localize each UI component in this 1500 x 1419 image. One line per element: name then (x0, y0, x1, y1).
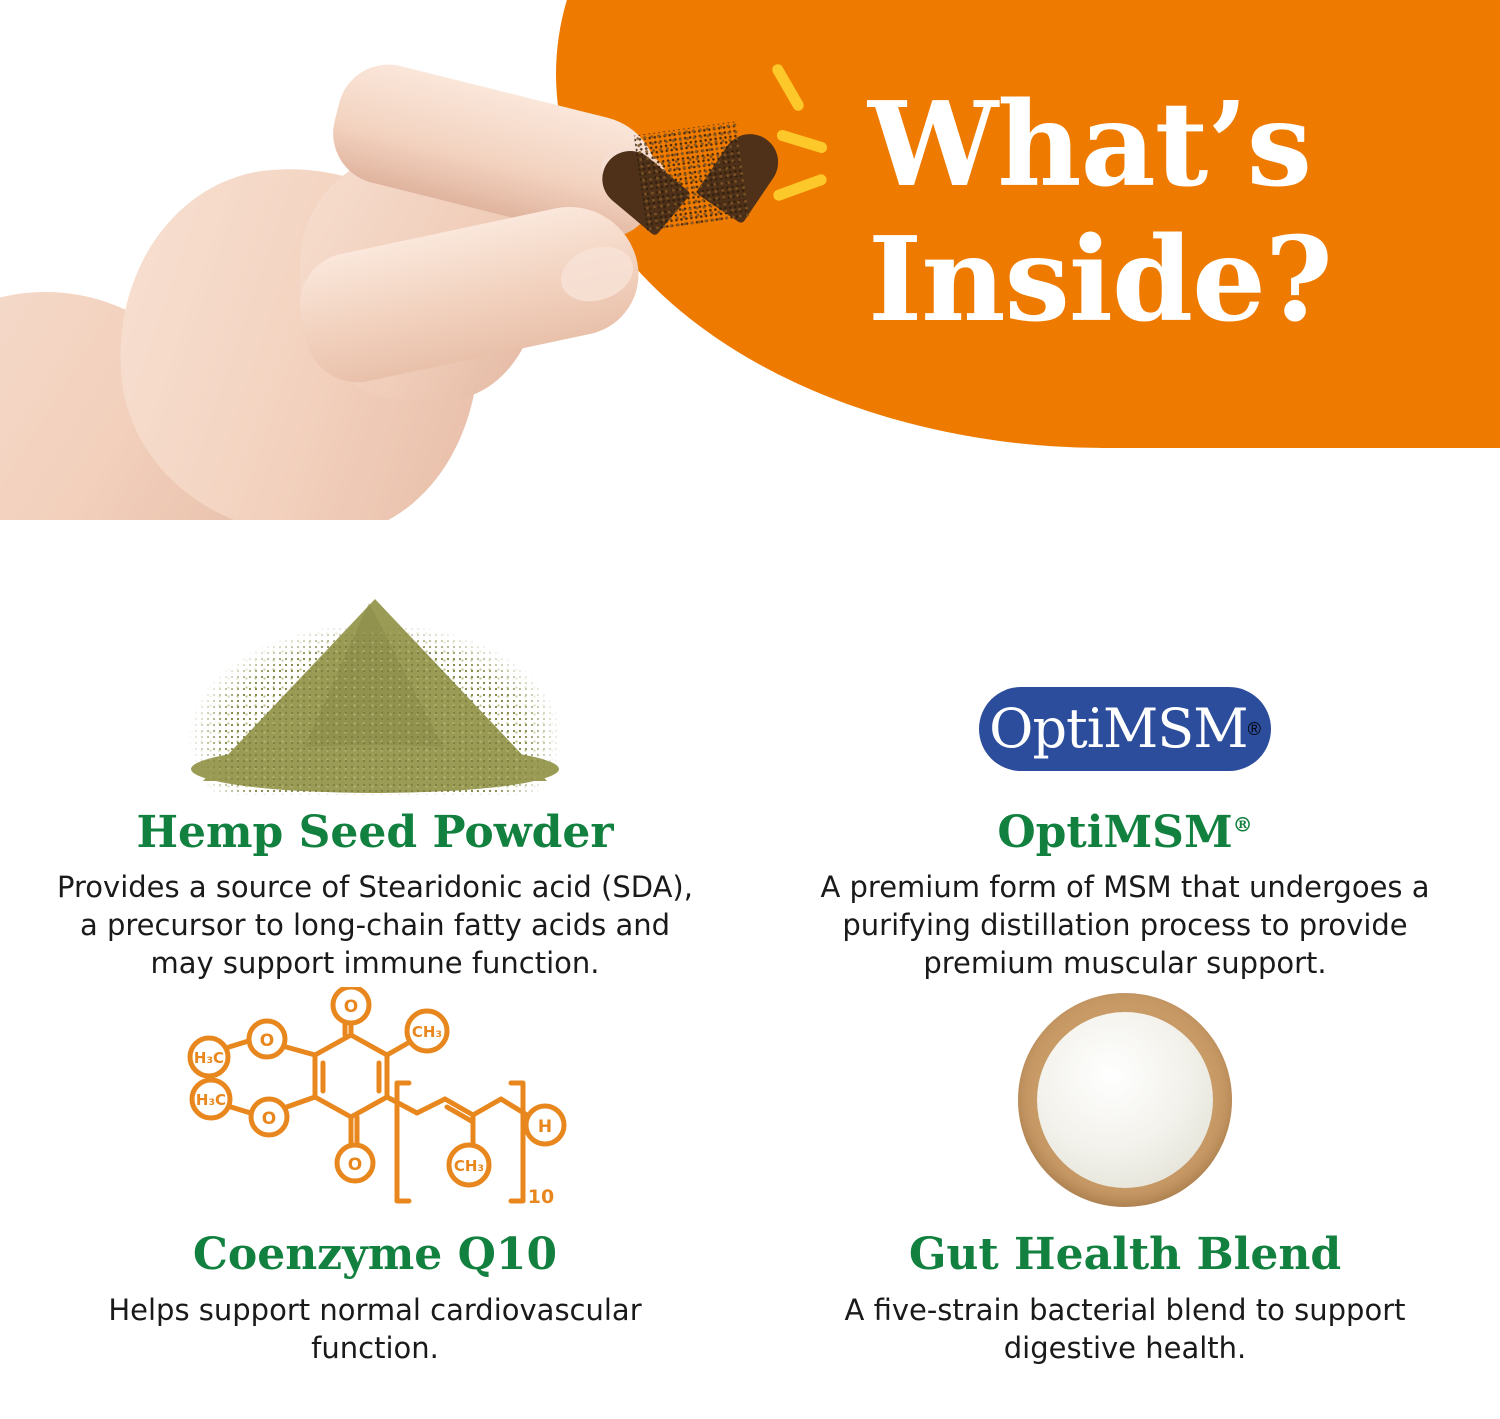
ingredient-description: A premium form of MSM that undergoes a p… (805, 869, 1445, 982)
optimsm-logo-registered-icon: ® (1248, 719, 1261, 740)
page-title-line-1: What’s (868, 78, 1488, 213)
ingredient-card-hemp-seed-powder: Hemp Seed Powder Provides a source of St… (0, 560, 750, 982)
page-title-line-2: Inside? (868, 213, 1488, 348)
molecule-label-h3c-lower: H₃C (196, 1091, 226, 1109)
ingredient-title: Hemp Seed Powder (136, 809, 613, 857)
ingredient-description: Provides a source of Stearidonic acid (S… (55, 869, 695, 982)
optimsm-visual: OptiMSM® (784, 560, 1466, 795)
ingredient-title: Coenzyme Q10 (193, 1231, 557, 1279)
optimsm-logo-text: OptiMSM (989, 702, 1247, 756)
optimsm-logo: OptiMSM® (979, 687, 1271, 771)
coenzyme-q10-visual: O O O O H₃C H₃C CH₃ CH₃ H 10 (34, 982, 716, 1217)
heart-chew-treat (634, 121, 750, 231)
heart-chew-texture (634, 121, 750, 231)
ingredient-card-gut-health-blend: Gut Health Blend A five-strain bacterial… (750, 982, 1500, 1367)
page-title: What’s Inside? (868, 78, 1488, 347)
ingredient-grid: Hemp Seed Powder Provides a source of St… (0, 560, 1500, 1367)
ingredient-title-text: OptiMSM (997, 807, 1232, 858)
molecule-label-h-end: H (538, 1117, 552, 1137)
molecule-label-o-left-lower: O (262, 1109, 276, 1129)
molecule-label-o-bottom: O (348, 1155, 362, 1175)
coenzyme-q10-molecule-diagram: O O O O H₃C H₃C CH₃ CH₃ H 10 (165, 987, 585, 1217)
ingredient-card-optimsm: OptiMSM® OptiMSM® A premium form of MSM … (750, 560, 1500, 982)
gut-health-blend-visual (784, 982, 1466, 1217)
molecule-label-o-left-upper: O (260, 1031, 274, 1051)
bowl-of-white-powder-image (1018, 993, 1232, 1207)
molecule-label-o-top: O (344, 997, 358, 1017)
molecule-label-ch3-ring: CH₃ (412, 1023, 442, 1041)
registered-trademark-icon: ® (1233, 812, 1253, 836)
molecule-label-ch3-chain: CH₃ (454, 1157, 484, 1175)
ingredient-description: Helps support normal cardiovascular func… (55, 1292, 695, 1367)
hero-banner: What’s Inside? (0, 0, 1500, 520)
infographic-page: What’s Inside? Hemp Seed Powder Provides… (0, 0, 1500, 1419)
molecule-label-subscript: 10 (528, 1186, 554, 1208)
white-powder (1037, 1012, 1213, 1188)
ingredient-title: Gut Health Blend (909, 1231, 1341, 1279)
ingredient-card-coenzyme-q10: O O O O H₃C H₃C CH₃ CH₃ H 10 Coenzyme Q1… (0, 982, 750, 1367)
hemp-seed-powder-visual (34, 560, 716, 795)
ingredient-title: OptiMSM® (997, 809, 1252, 857)
hemp-seed-powder-pile-image (175, 590, 575, 795)
powder-grain-texture (175, 590, 575, 795)
ingredient-description: A five-strain bacterial blend to support… (805, 1292, 1445, 1367)
molecule-label-h3c-upper: H₃C (194, 1049, 224, 1067)
